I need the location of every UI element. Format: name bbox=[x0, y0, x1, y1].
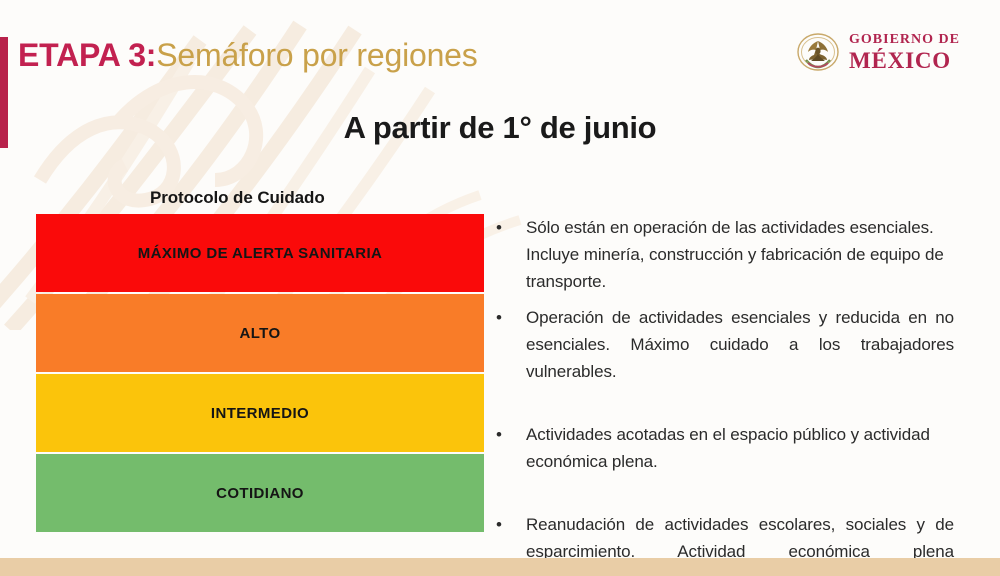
mexican-coat-of-arms-icon bbox=[796, 30, 840, 74]
description-item-alto: • Operación de actividades esenciales y … bbox=[492, 304, 954, 412]
bullet-marker-icon: • bbox=[492, 214, 526, 241]
level-label-cotidiano: COTIDIANO bbox=[216, 485, 304, 502]
page-title-rest: Semáforo por regiones bbox=[156, 37, 477, 73]
description-item-maximo: • Sólo están en operación de las activid… bbox=[492, 214, 954, 295]
gobierno-de-mexico-logo: GOBIERNO DE MÉXICO bbox=[796, 30, 960, 74]
level-bar-intermedio: INTERMEDIO bbox=[36, 374, 484, 452]
protocol-column-label: Protocolo de Cuidado bbox=[150, 188, 325, 208]
level-bar-maximo: MÁXIMO DE ALERTA SANITARIA bbox=[36, 214, 484, 292]
description-item-intermedio: • Actividades acotadas en el espacio púb… bbox=[492, 421, 954, 475]
level-descriptions: • Sólo están en operación de las activid… bbox=[492, 214, 954, 576]
page-title-emphasis: ETAPA 3: bbox=[18, 37, 156, 73]
level-bar-alto: ALTO bbox=[36, 294, 484, 372]
bullet-marker-icon: • bbox=[492, 511, 526, 538]
description-text-alto: Operación de actividades esenciales y re… bbox=[526, 304, 954, 412]
semaforo-levels: MÁXIMO DE ALERTA SANITARIA ALTO INTERMED… bbox=[36, 214, 484, 534]
logo-wordmark: GOBIERNO DE MÉXICO bbox=[849, 32, 960, 73]
date-heading: A partir de 1° de junio bbox=[0, 110, 1000, 146]
logo-line-gobierno: GOBIERNO DE bbox=[849, 32, 960, 48]
slide-canvas: ETAPA 3:Semáforo por regiones GOBIERNO D… bbox=[0, 0, 1000, 576]
logo-line-mexico: MÉXICO bbox=[849, 48, 960, 73]
description-text-maximo: Sólo están en operación de las actividad… bbox=[526, 214, 954, 295]
level-label-intermedio: INTERMEDIO bbox=[211, 405, 309, 422]
level-label-maximo: MÁXIMO DE ALERTA SANITARIA bbox=[138, 245, 383, 262]
page-title: ETAPA 3:Semáforo por regiones bbox=[18, 34, 478, 76]
footer-band bbox=[0, 558, 1000, 576]
description-text-intermedio: Actividades acotadas en el espacio públi… bbox=[526, 421, 954, 475]
level-label-alto: ALTO bbox=[239, 325, 280, 342]
bullet-marker-icon: • bbox=[492, 421, 526, 448]
bullet-marker-icon: • bbox=[492, 304, 526, 331]
level-bar-cotidiano: COTIDIANO bbox=[36, 454, 484, 532]
